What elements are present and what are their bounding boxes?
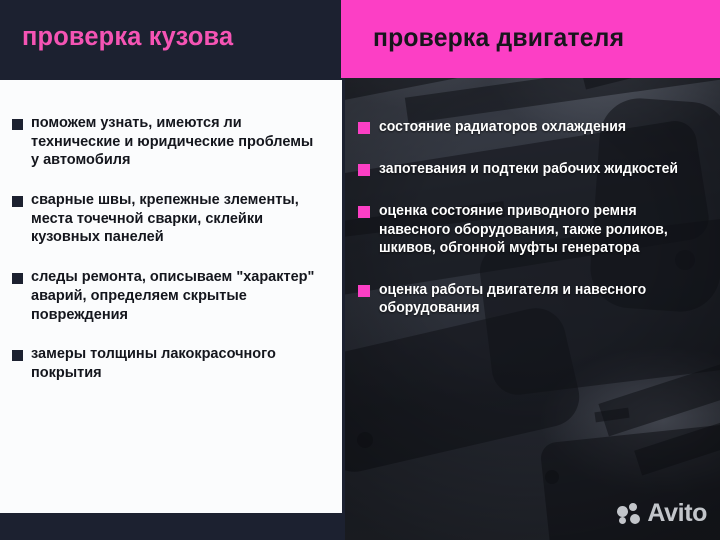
avito-wordmark: Avito xyxy=(647,501,707,526)
list-item-label: поможем узнать, имеются ли технические и… xyxy=(31,114,315,170)
list-item-label: оценка состояние приводного ремня навесн… xyxy=(379,202,695,257)
list-item-label: состояние радиаторов охлаждения xyxy=(379,118,626,136)
right-bullet-list: состояние радиаторов охлаждения запотева… xyxy=(358,118,708,342)
square-bullet-icon xyxy=(358,122,370,134)
list-item: оценка состояние приводного ремня навесн… xyxy=(358,202,708,257)
left-header-bar: проверка кузова xyxy=(0,0,345,80)
list-item: поможем узнать, имеются ли технические и… xyxy=(12,114,328,170)
promo-poster: проверка кузова проверка двигателя помож… xyxy=(0,0,720,540)
right-header-bar: проверка двигателя xyxy=(341,0,720,78)
square-bullet-icon xyxy=(12,196,23,207)
square-bullet-icon xyxy=(358,285,370,297)
list-item: замеры толщины лакокрасочного покрытия xyxy=(12,345,328,382)
list-item-label: следы ремонта, описываем "характер" авар… xyxy=(31,268,315,324)
right-title: проверка двигателя xyxy=(373,22,624,53)
square-bullet-icon xyxy=(12,350,23,361)
list-item: следы ремонта, описываем "характер" авар… xyxy=(12,268,328,324)
avito-dots-icon xyxy=(617,503,643,525)
list-item: оценка работы двигателя и навесного обор… xyxy=(358,281,708,317)
list-item-label: замеры толщины лакокрасочного покрытия xyxy=(31,345,315,382)
avito-watermark: Avito xyxy=(617,501,707,526)
left-bullet-list: поможем узнать, имеются ли технические и… xyxy=(12,114,328,383)
left-footer-strip xyxy=(0,513,345,540)
square-bullet-icon xyxy=(358,164,370,176)
square-bullet-icon xyxy=(12,273,23,284)
left-content-card: поможем узнать, имеются ли технические и… xyxy=(0,80,342,513)
list-item-label: запотевания и подтеки рабочих жидкостей xyxy=(379,160,678,178)
list-item: запотевания и подтеки рабочих жидкостей xyxy=(358,160,708,178)
square-bullet-icon xyxy=(12,119,23,130)
list-item: состояние радиаторов охлаждения xyxy=(358,118,708,136)
list-item-label: сварные швы, крепежные злементы, места т… xyxy=(31,191,315,247)
square-bullet-icon xyxy=(358,206,370,218)
list-item-label: оценка работы двигателя и навесного обор… xyxy=(379,281,695,317)
list-item: сварные швы, крепежные злементы, места т… xyxy=(12,191,328,247)
left-title: проверка кузова xyxy=(22,21,233,52)
